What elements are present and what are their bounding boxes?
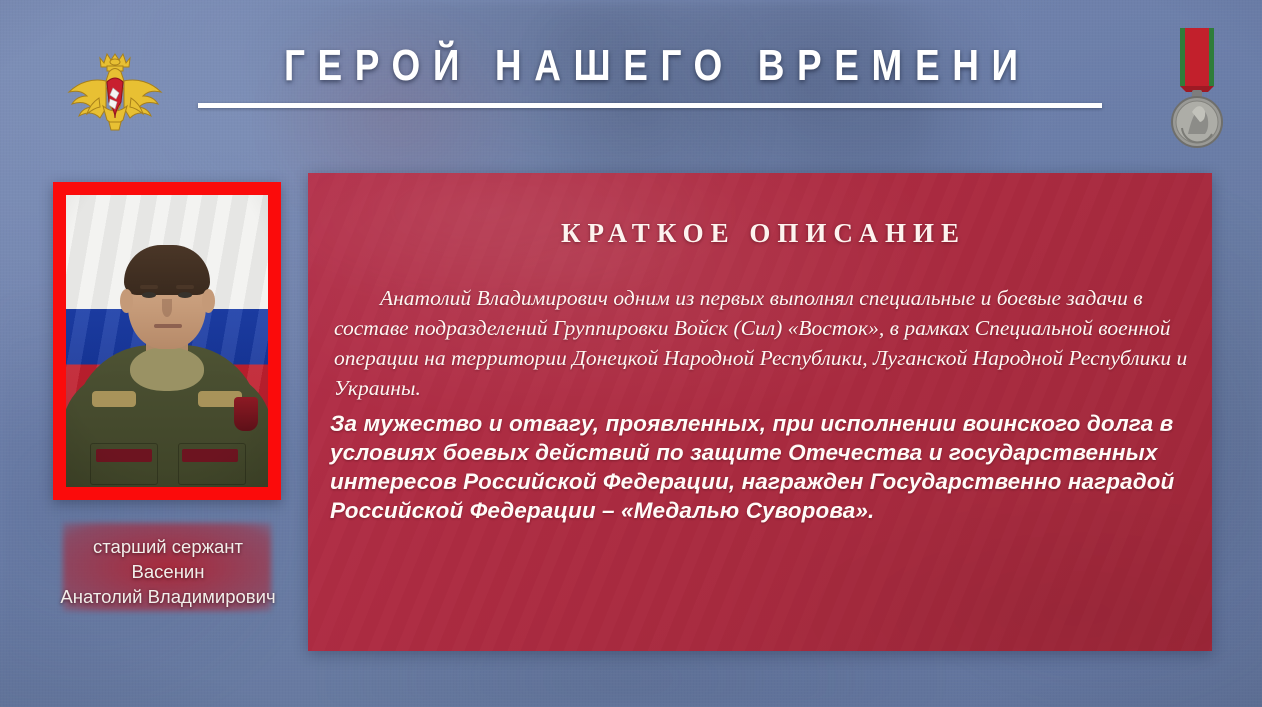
soldier-portrait-photo [66,195,268,487]
description-paragraph-1: Анатолий Владимирович одним из первых вы… [334,283,1192,403]
photo-vignette [66,195,268,487]
russian-mod-eagle-emblem-icon [63,42,167,146]
page-title: ГЕРОЙ НАШЕГО ВРЕМЕНИ [270,40,1031,92]
suvorov-medal-icon [1158,24,1236,156]
soldier-rank: старший сержант [43,534,293,559]
soldier-given-name: Анатолий Владимирович [43,584,293,609]
portrait-frame [53,182,281,500]
panel-title: КРАТКОЕ ОПИСАНИЕ [308,218,1212,249]
title-divider [198,103,1102,108]
description-paragraph-2: За мужество и отвагу, проявленных, при и… [330,409,1198,525]
description-panel: КРАТКОЕ ОПИСАНИЕ Анатолий Владимирович о… [308,173,1212,651]
nameplate: старший сержант Васенин Анатолий Владими… [43,534,293,609]
poster-root: ГЕРОЙ НАШЕГО ВРЕМЕНИ КРАТКОЕ ОПИСАНИЕ Ан… [0,0,1262,707]
soldier-surname: Васенин [43,559,293,584]
